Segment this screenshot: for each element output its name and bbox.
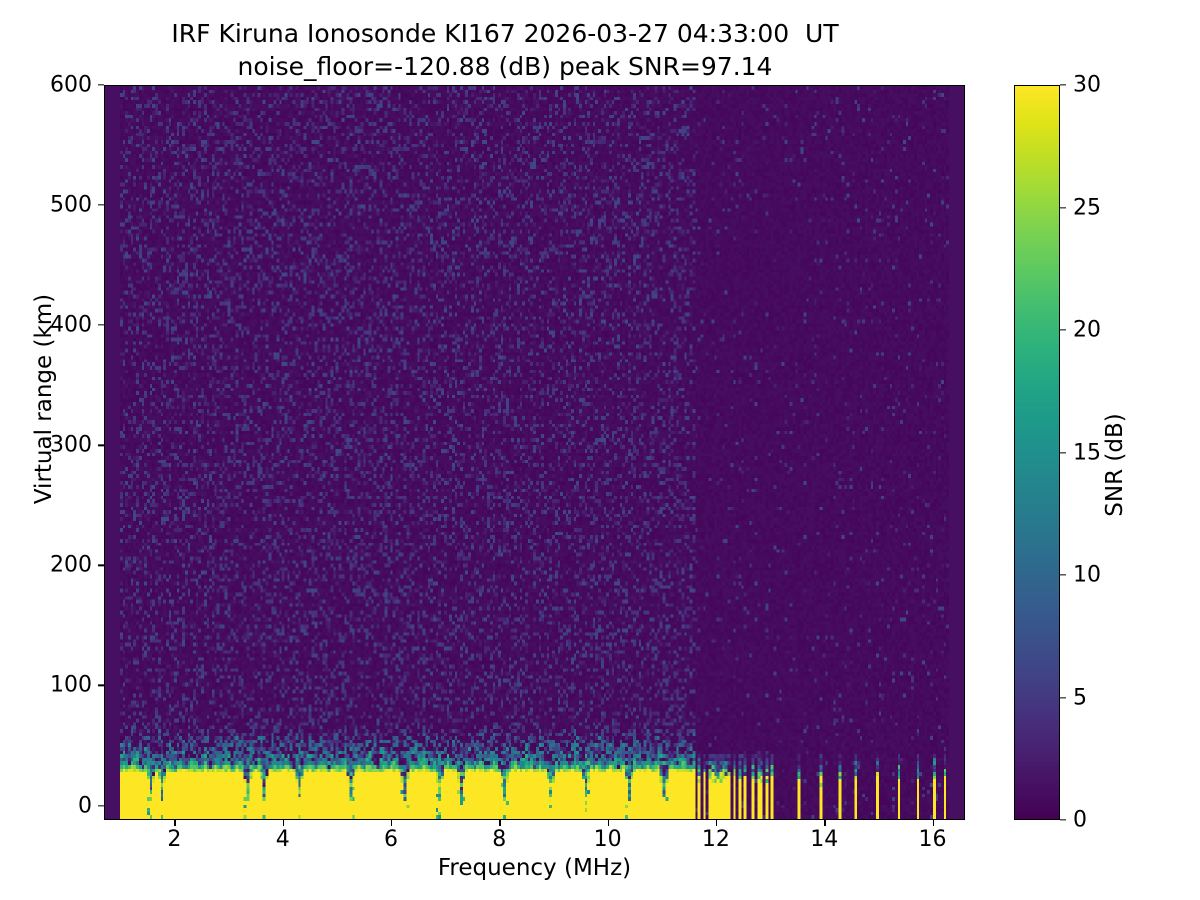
x-tick-label-12: 12 (702, 827, 730, 852)
y-tick-mark-200 (98, 565, 104, 566)
y-tick-label-300: 300 (50, 433, 92, 458)
colorbar-tick-mark-5 (1060, 697, 1066, 698)
ionogram-figure: IRF Kiruna Ionosonde KI167 2026-03-27 04… (0, 0, 1200, 900)
colorbar-tick-label-10: 10 (1073, 563, 1101, 588)
colorbar-tick-mark-30 (1060, 84, 1066, 85)
x-tick-label-14: 14 (810, 827, 838, 852)
colorbar-tick-label-15: 15 (1073, 440, 1101, 465)
y-tick-mark-500 (98, 204, 104, 205)
colorbar-tick-label-30: 30 (1073, 73, 1101, 98)
colorbar-tick-mark-0 (1060, 819, 1066, 820)
y-tick-mark-0 (98, 805, 104, 806)
x-tick-mark-2 (174, 820, 175, 826)
y-tick-label-600: 600 (50, 73, 92, 98)
y-tick-mark-100 (98, 685, 104, 686)
y-tick-mark-600 (98, 84, 104, 85)
y-tick-mark-300 (98, 445, 104, 446)
colorbar-tick-label-5: 5 (1073, 685, 1087, 710)
x-tick-label-10: 10 (594, 827, 622, 852)
colorbar[interactable] (1014, 85, 1060, 820)
y-tick-label-500: 500 (50, 193, 92, 218)
x-tick-label-16: 16 (919, 827, 947, 852)
y-tick-label-100: 100 (50, 673, 92, 698)
title-line-2: noise_floor=-120.88 (dB) peak SNR=97.14 (0, 51, 1010, 84)
colorbar-tick-mark-25 (1060, 207, 1066, 208)
x-tick-label-6: 6 (384, 827, 398, 852)
figure-title: IRF Kiruna Ionosonde KI167 2026-03-27 04… (0, 18, 1010, 83)
colorbar-tick-mark-10 (1060, 574, 1066, 575)
x-tick-mark-16 (933, 820, 934, 826)
colorbar-tick-label-20: 20 (1073, 318, 1101, 343)
x-tick-label-8: 8 (492, 827, 506, 852)
y-tick-label-200: 200 (50, 553, 92, 578)
colorbar-gradient (1015, 86, 1059, 819)
x-tick-label-4: 4 (276, 827, 290, 852)
x-tick-mark-6 (391, 820, 392, 826)
x-axis-label: Frequency (MHz) (104, 855, 965, 881)
colorbar-tick-label-0: 0 (1073, 808, 1087, 833)
y-axis-label: Virtual range (km) (31, 259, 57, 539)
ionogram-heatmap-canvas (105, 86, 964, 819)
x-tick-mark-8 (499, 820, 500, 826)
x-tick-mark-12 (716, 820, 717, 826)
colorbar-tick-label-25: 25 (1073, 195, 1101, 220)
title-line-1: IRF Kiruna Ionosonde KI167 2026-03-27 04… (0, 18, 1010, 51)
colorbar-tick-mark-20 (1060, 329, 1066, 330)
colorbar-label: SNR (dB) (1102, 325, 1128, 605)
colorbar-tick-mark-15 (1060, 452, 1066, 453)
x-tick-mark-4 (283, 820, 284, 826)
x-tick-mark-14 (824, 820, 825, 826)
ionogram-plot-area[interactable] (104, 85, 965, 820)
y-tick-mark-400 (98, 325, 104, 326)
x-tick-mark-10 (608, 820, 609, 826)
x-tick-label-2: 2 (167, 827, 181, 852)
y-tick-label-400: 400 (50, 313, 92, 338)
y-tick-label-0: 0 (78, 793, 92, 818)
